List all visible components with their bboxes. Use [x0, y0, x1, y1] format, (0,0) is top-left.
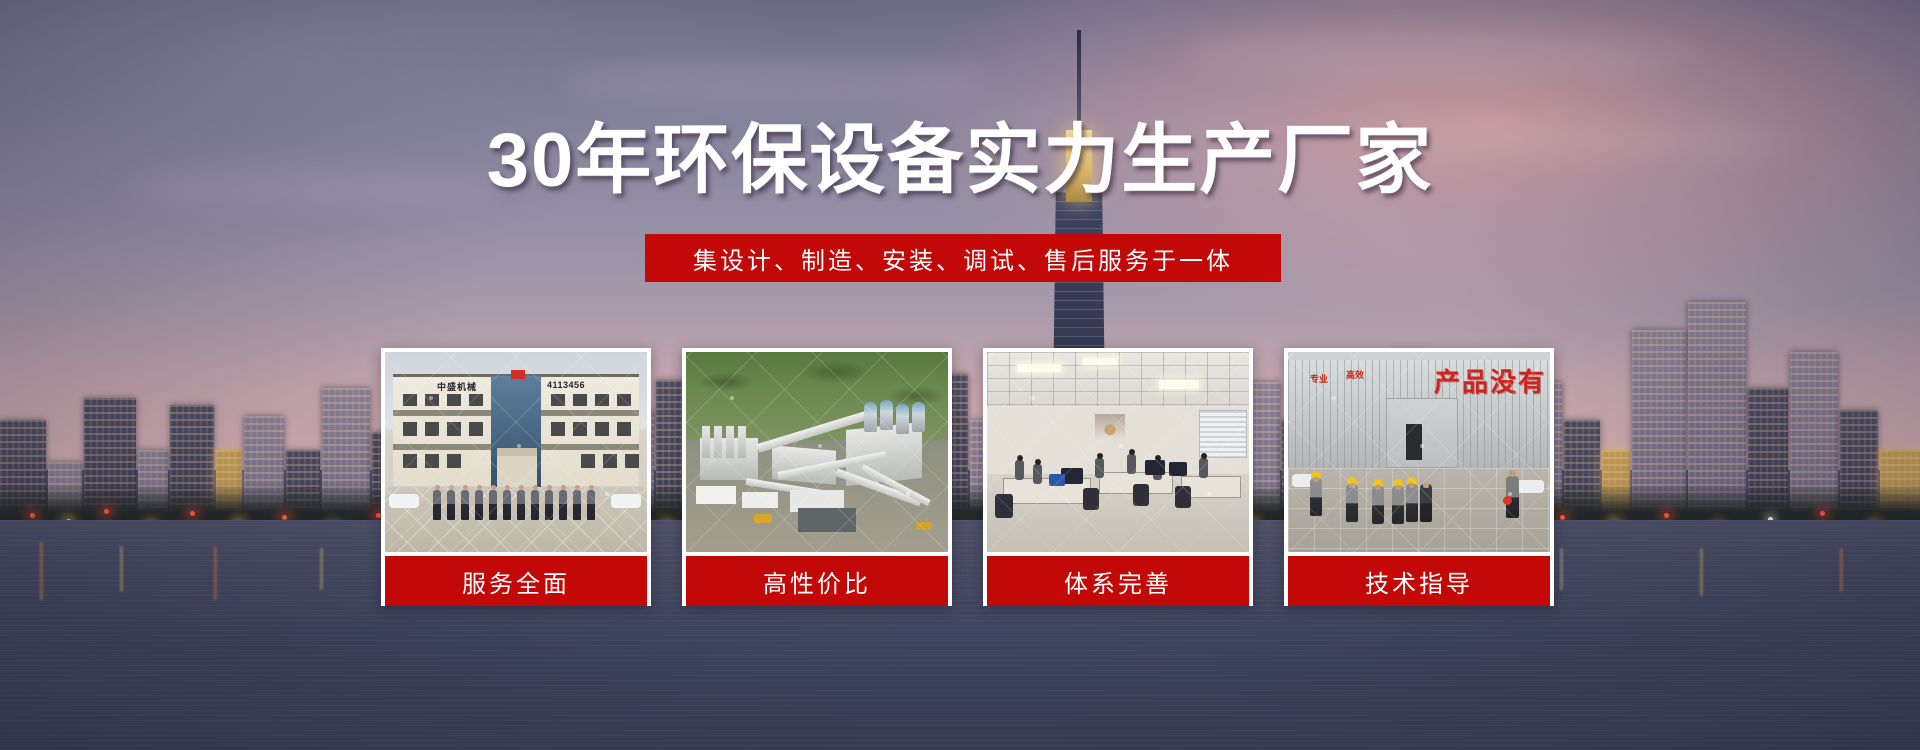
workshop-banner-small-text: 专业: [1310, 374, 1328, 385]
feature-card-label: 服务全面: [385, 556, 647, 606]
feature-card-row: 中盛机械 4113456: [381, 348, 1545, 606]
building-phone-text: 4113456: [547, 380, 585, 390]
office-interior-workstations-photo: [987, 352, 1249, 552]
banner-subtitle-bar: 集设计、制造、安装、调试、售后服务于一体: [645, 234, 1281, 282]
hero-banner: 30年环保设备实力生产厂家 集设计、制造、安装、调试、售后服务于一体: [0, 0, 1920, 750]
feature-card[interactable]: 体系完善: [983, 348, 1253, 606]
building-sign-text: 中盛机械: [437, 380, 477, 393]
aerial-factory-plant-photo: [686, 352, 948, 552]
banner-content: 30年环保设备实力生产厂家 集设计、制造、安装、调试、售后服务于一体: [0, 0, 1920, 750]
feature-card[interactable]: 高性价比: [682, 348, 952, 606]
workshop-banner-large-text: 产品没有: [1434, 362, 1546, 399]
feature-card[interactable]: 中盛机械 4113456: [381, 348, 651, 606]
feature-card-label: 体系完善: [987, 556, 1249, 606]
feature-card[interactable]: 产品没有 专业 高效 技术指导: [1284, 348, 1554, 606]
workshop-workers-briefing-photo: 产品没有 专业 高效: [1288, 352, 1550, 552]
banner-subtitle-text: 集设计、制造、安装、调试、售后服务于一体: [693, 241, 1233, 276]
feature-card-label: 高性价比: [686, 556, 948, 606]
banner-headline: 30年环保设备实力生产厂家: [0, 118, 1920, 204]
feature-card-label: 技术指导: [1288, 556, 1550, 606]
workshop-banner-small-text: 高效: [1346, 370, 1364, 381]
office-building-with-staff-photo: 中盛机械 4113456: [385, 352, 647, 552]
